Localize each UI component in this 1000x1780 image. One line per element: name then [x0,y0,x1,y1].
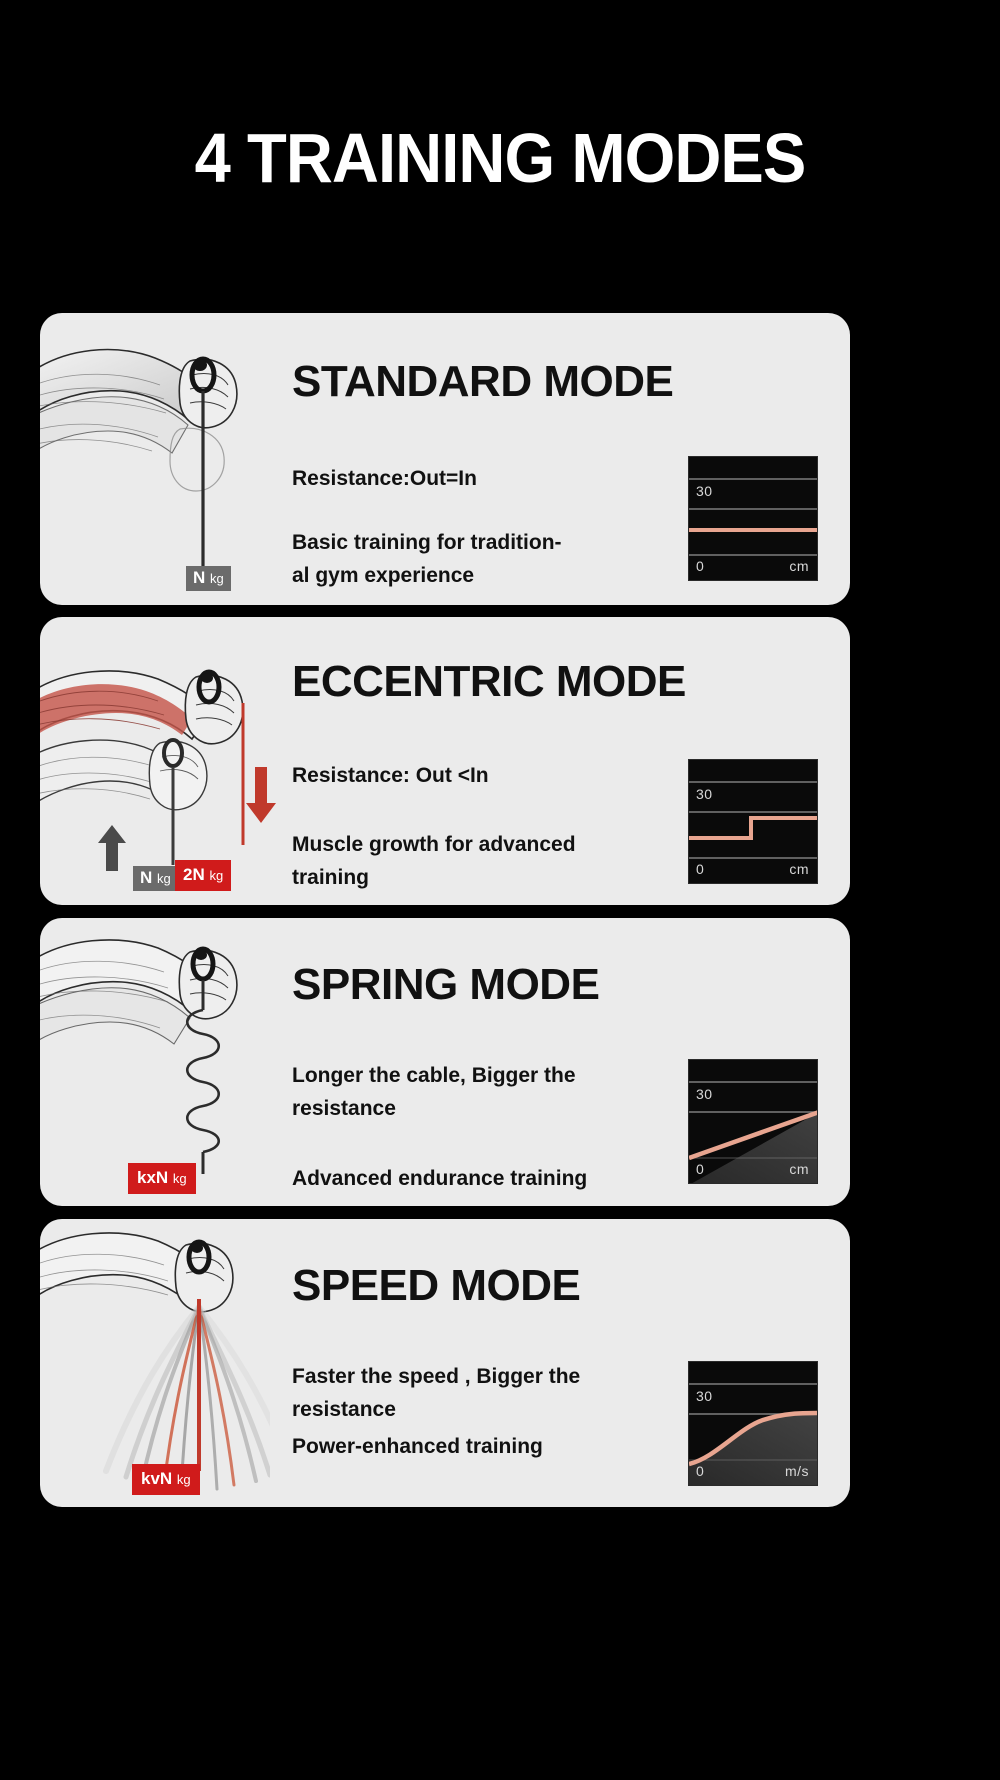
graph-unit-label: cm [789,1161,809,1177]
graph-zero-label: 0 [696,558,704,574]
mode-title: STANDARD MODE [292,357,673,407]
graph-zero-label: 0 [696,861,704,877]
page-title: 4 TRAINING MODES [35,118,965,198]
arm-illustration-standard [40,313,270,605]
resistance-graph-standard: 30 0 cm [688,456,818,581]
graph-zero-label: 0 [696,1161,704,1177]
resistance-graph-eccentric: 30 0 cm [688,759,818,884]
weight-tag: N kg [186,566,231,591]
graph-unit-label: cm [789,558,809,574]
weight-tag: kxN kg [128,1163,196,1194]
weight-tag: kvN kg [132,1464,200,1495]
resistance-graph-speed: 30 0 m/s [688,1361,818,1486]
graph-unit-label: cm [789,861,809,877]
graph-top-label: 30 [696,483,713,499]
mode-title: SPEED MODE [292,1261,580,1311]
mode-desc-line1: Resistance: Out <In [292,760,712,793]
mode-card-speed[interactable]: SPEED MODE Faster the speed , Bigger the… [40,1219,850,1507]
mode-desc-line2: Advanced endurance training [292,1163,732,1196]
mode-title: ECCENTRIC MODE [292,657,686,707]
graph-unit-label: m/s [785,1463,809,1479]
mode-desc-line1: Faster the speed , Bigger theresistance [292,1361,722,1426]
infographic-page: 4 TRAINING MODES [0,0,1000,1780]
graph-top-label: 30 [696,1388,713,1404]
mode-card-spring[interactable]: SPRING MODE Longer the cable, Bigger the… [40,918,850,1206]
mode-desc-line2: Basic training for tradition-al gym expe… [292,527,704,592]
resistance-graph-spring: 30 0 cm [688,1059,818,1184]
mode-desc-line2: Power-enhanced training [292,1431,722,1464]
weight-tag-heavy: 2N kg [175,860,231,891]
arm-illustration-eccentric [40,617,270,905]
weight-tag: N kg [133,866,178,891]
graph-top-label: 30 [696,1086,713,1102]
mode-desc-line2: Muscle growth for advancedtraining [292,829,712,894]
graph-zero-label: 0 [696,1463,704,1479]
mode-desc-line1: Resistance:Out=In [292,463,692,496]
down-arrow-icon [240,767,282,827]
mode-card-standard[interactable]: STANDARD MODE Resistance:Out=In Basic tr… [40,313,850,605]
mode-card-eccentric[interactable]: ECCENTRIC MODE Resistance: Out <In Muscl… [40,617,850,905]
graph-top-label: 30 [696,786,713,802]
mode-desc-line1: Longer the cable, Bigger theresistance [292,1060,717,1125]
mode-title: SPRING MODE [292,960,599,1010]
